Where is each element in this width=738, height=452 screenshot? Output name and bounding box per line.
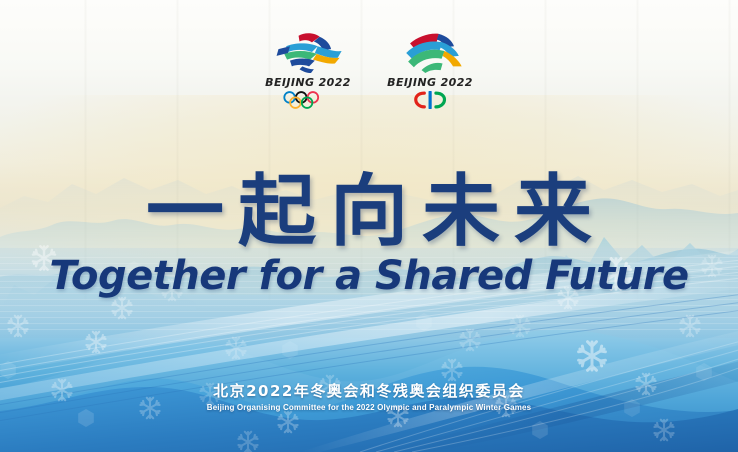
paralympic-wordmark: BEIJING 2022: [378, 77, 482, 88]
emblem-row: BEIJING 2022: [0, 30, 738, 112]
paralympic-agitos-icon: [401, 91, 459, 109]
beijing-2022-paralympic-emblem-icon: [389, 30, 471, 74]
organisation-block: 北京2022年冬奥会和冬残奥会组织委员会 Beijing Organising …: [0, 382, 738, 414]
slogan-english: Together for a Shared Future: [0, 252, 738, 300]
beijing-2022-poster: BEIJING 2022: [0, 0, 738, 452]
slogan-chinese: 一起向未来: [0, 170, 738, 254]
olympic-emblem-block: BEIJING 2022: [256, 30, 360, 109]
olympic-rings-icon: [279, 91, 337, 109]
paralympic-emblem-block: BEIJING 2022: [378, 30, 482, 109]
organisation-name-english: Beijing Organising Committee for the 202…: [0, 402, 738, 414]
beijing-2022-olympic-emblem-icon: [267, 30, 349, 74]
olympic-wordmark: BEIJING 2022: [256, 77, 360, 88]
organisation-name-chinese: 北京2022年冬奥会和冬残奥会组织委员会: [0, 382, 738, 400]
